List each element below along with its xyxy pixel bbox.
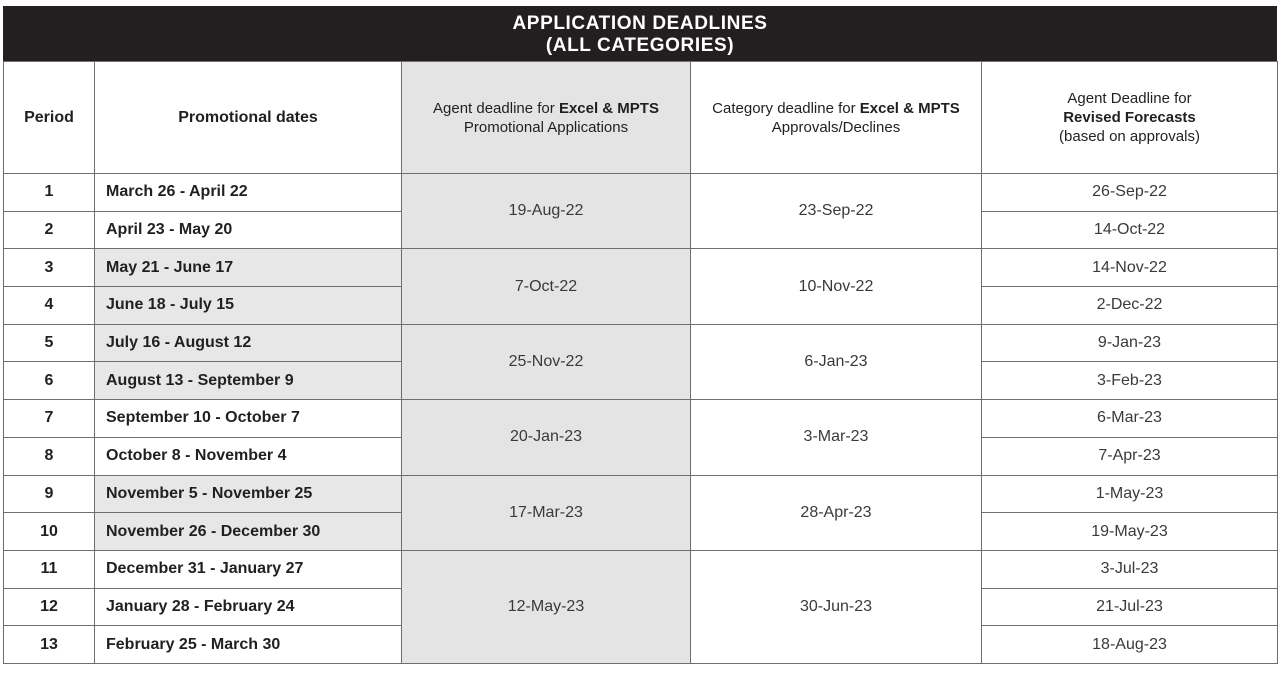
category-header-part2: Approvals/Declines — [772, 119, 900, 136]
cell-period: 12 — [4, 588, 95, 626]
table-row: 11December 31 - January 2712-May-2330-Ju… — [4, 550, 1278, 588]
cell-agent-deadline: 17-Mar-23 — [402, 475, 691, 550]
column-header-agent-deadline: Agent deadline for Excel & MPTS Promotio… — [402, 62, 691, 174]
column-header-revised-forecasts: Agent Deadline forRevised Forecasts(base… — [982, 62, 1278, 174]
revised-header-part2: (based on approvals) — [1059, 128, 1200, 145]
cell-promotional-dates: July 16 - August 12 — [95, 324, 402, 362]
revised-header-bold: Revised Forecasts — [1063, 109, 1196, 126]
column-header-category-deadline: Category deadline for Excel & MPTS Appro… — [691, 62, 982, 174]
cell-promotional-dates: August 13 - September 9 — [95, 362, 402, 400]
table-body: 1March 26 - April 2219-Aug-2223-Sep-2226… — [4, 174, 1278, 664]
cell-period: 13 — [4, 626, 95, 664]
table-row: 1March 26 - April 2219-Aug-2223-Sep-2226… — [4, 174, 1278, 212]
cell-category-deadline: 3-Mar-23 — [691, 400, 982, 475]
cell-revised-forecast-deadline: 2-Dec-22 — [982, 287, 1278, 325]
cell-revised-forecast-deadline: 14-Oct-22 — [982, 211, 1278, 249]
cell-revised-forecast-deadline: 9-Jan-23 — [982, 324, 1278, 362]
column-header-promotional-dates: Promotional dates — [95, 62, 402, 174]
cell-period: 11 — [4, 550, 95, 588]
cell-revised-forecast-deadline: 18-Aug-23 — [982, 626, 1278, 664]
cell-period: 4 — [4, 287, 95, 325]
agent-header-part1: Agent deadline for — [433, 100, 559, 117]
cell-agent-deadline: 12-May-23 — [402, 550, 691, 663]
cell-agent-deadline: 7-Oct-22 — [402, 249, 691, 324]
header-row: Period Promotional dates Agent deadline … — [4, 62, 1278, 174]
cell-period: 7 — [4, 400, 95, 438]
cell-period: 6 — [4, 362, 95, 400]
cell-promotional-dates: November 26 - December 30 — [95, 513, 402, 551]
agent-header-bold: Excel & MPTS — [559, 100, 659, 117]
cell-revised-forecast-deadline: 6-Mar-23 — [982, 400, 1278, 438]
cell-category-deadline: 6-Jan-23 — [691, 324, 982, 399]
category-header-part1: Category deadline for — [712, 100, 860, 117]
cell-agent-deadline: 19-Aug-22 — [402, 174, 691, 249]
cell-revised-forecast-deadline: 14-Nov-22 — [982, 249, 1278, 287]
title-line-2: (ALL CATEGORIES) — [3, 35, 1277, 57]
cell-revised-forecast-deadline: 26-Sep-22 — [982, 174, 1278, 212]
cell-promotional-dates: February 25 - March 30 — [95, 626, 402, 664]
cell-promotional-dates: September 10 - October 7 — [95, 400, 402, 438]
cell-promotional-dates: January 28 - February 24 — [95, 588, 402, 626]
agent-header-part2: Promotional Applications — [464, 119, 628, 136]
cell-category-deadline: 28-Apr-23 — [691, 475, 982, 550]
cell-category-deadline: 30-Jun-23 — [691, 550, 982, 663]
cell-period: 8 — [4, 437, 95, 475]
cell-revised-forecast-deadline: 3-Feb-23 — [982, 362, 1278, 400]
table-header: Period Promotional dates Agent deadline … — [4, 62, 1278, 174]
cell-promotional-dates: June 18 - July 15 — [95, 287, 402, 325]
cell-promotional-dates: May 21 - June 17 — [95, 249, 402, 287]
cell-revised-forecast-deadline: 7-Apr-23 — [982, 437, 1278, 475]
deadlines-sheet: APPLICATION DEADLINES (ALL CATEGORIES) P… — [0, 0, 1280, 675]
table-row: 3May 21 - June 177-Oct-2210-Nov-2214-Nov… — [4, 249, 1278, 287]
cell-period: 5 — [4, 324, 95, 362]
cell-promotional-dates: April 23 - May 20 — [95, 211, 402, 249]
cell-revised-forecast-deadline: 1-May-23 — [982, 475, 1278, 513]
table-row: 9November 5 - November 2517-Mar-2328-Apr… — [4, 475, 1278, 513]
title-line-1: APPLICATION DEADLINES — [3, 13, 1277, 35]
column-header-period: Period — [4, 62, 95, 174]
cell-period: 1 — [4, 174, 95, 212]
cell-category-deadline: 23-Sep-22 — [691, 174, 982, 249]
revised-header-part1: Agent Deadline for — [1067, 90, 1191, 107]
category-header-bold: Excel & MPTS — [860, 100, 960, 117]
cell-period: 9 — [4, 475, 95, 513]
cell-promotional-dates: December 31 - January 27 — [95, 550, 402, 588]
cell-promotional-dates: October 8 - November 4 — [95, 437, 402, 475]
cell-period: 2 — [4, 211, 95, 249]
cell-revised-forecast-deadline: 19-May-23 — [982, 513, 1278, 551]
cell-period: 3 — [4, 249, 95, 287]
cell-promotional-dates: November 5 - November 25 — [95, 475, 402, 513]
cell-agent-deadline: 20-Jan-23 — [402, 400, 691, 475]
application-deadlines-table: Period Promotional dates Agent deadline … — [3, 61, 1278, 664]
table-row: 7September 10 - October 720-Jan-233-Mar-… — [4, 400, 1278, 438]
cell-category-deadline: 10-Nov-22 — [691, 249, 982, 324]
cell-promotional-dates: March 26 - April 22 — [95, 174, 402, 212]
cell-revised-forecast-deadline: 3-Jul-23 — [982, 550, 1278, 588]
cell-revised-forecast-deadline: 21-Jul-23 — [982, 588, 1278, 626]
title-banner: APPLICATION DEADLINES (ALL CATEGORIES) — [3, 6, 1277, 61]
cell-period: 10 — [4, 513, 95, 551]
cell-agent-deadline: 25-Nov-22 — [402, 324, 691, 399]
table-row: 5July 16 - August 1225-Nov-226-Jan-239-J… — [4, 324, 1278, 362]
